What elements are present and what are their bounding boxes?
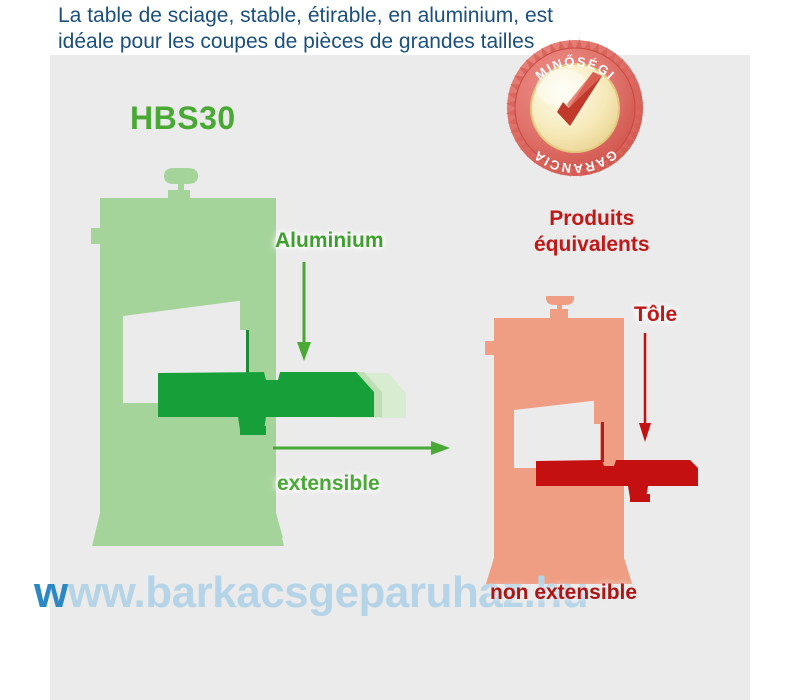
saw-knob-base xyxy=(550,309,568,318)
non-extensible-label: non extensible xyxy=(490,581,637,605)
saw-throat-gap xyxy=(514,400,600,468)
badge-graphic: MINŐSÉGI GARANCIA xyxy=(505,38,645,178)
saw-left-boss xyxy=(91,228,101,244)
tole-down-arrow xyxy=(637,333,653,448)
saw-blade xyxy=(601,422,604,462)
saw-blade xyxy=(246,330,249,376)
product-comparison-image: La table de sciage, stable, étirable, en… xyxy=(0,0,800,700)
green-band-saw-illustration xyxy=(88,168,448,553)
extensible-label: extensible xyxy=(277,472,380,496)
saw-table-foot xyxy=(630,494,650,502)
saw-knob-base xyxy=(168,190,190,200)
model-name-label: HBS30 xyxy=(130,100,236,137)
tole-label: Tôle xyxy=(634,303,677,327)
saw-base xyxy=(92,513,284,546)
saw-table-foot xyxy=(240,426,266,435)
red-band-saw-illustration xyxy=(482,296,732,586)
extensible-right-arrow xyxy=(273,440,451,461)
saw-left-boss xyxy=(485,341,496,355)
aluminium-label: Aluminium xyxy=(275,229,384,253)
aluminium-down-arrow xyxy=(296,262,312,367)
quality-guarantee-badge: MINŐSÉGI GARANCIA xyxy=(505,38,645,178)
equivalent-products-heading: Produits équivalents xyxy=(534,206,650,258)
watermark-lead: w xyxy=(34,568,68,617)
